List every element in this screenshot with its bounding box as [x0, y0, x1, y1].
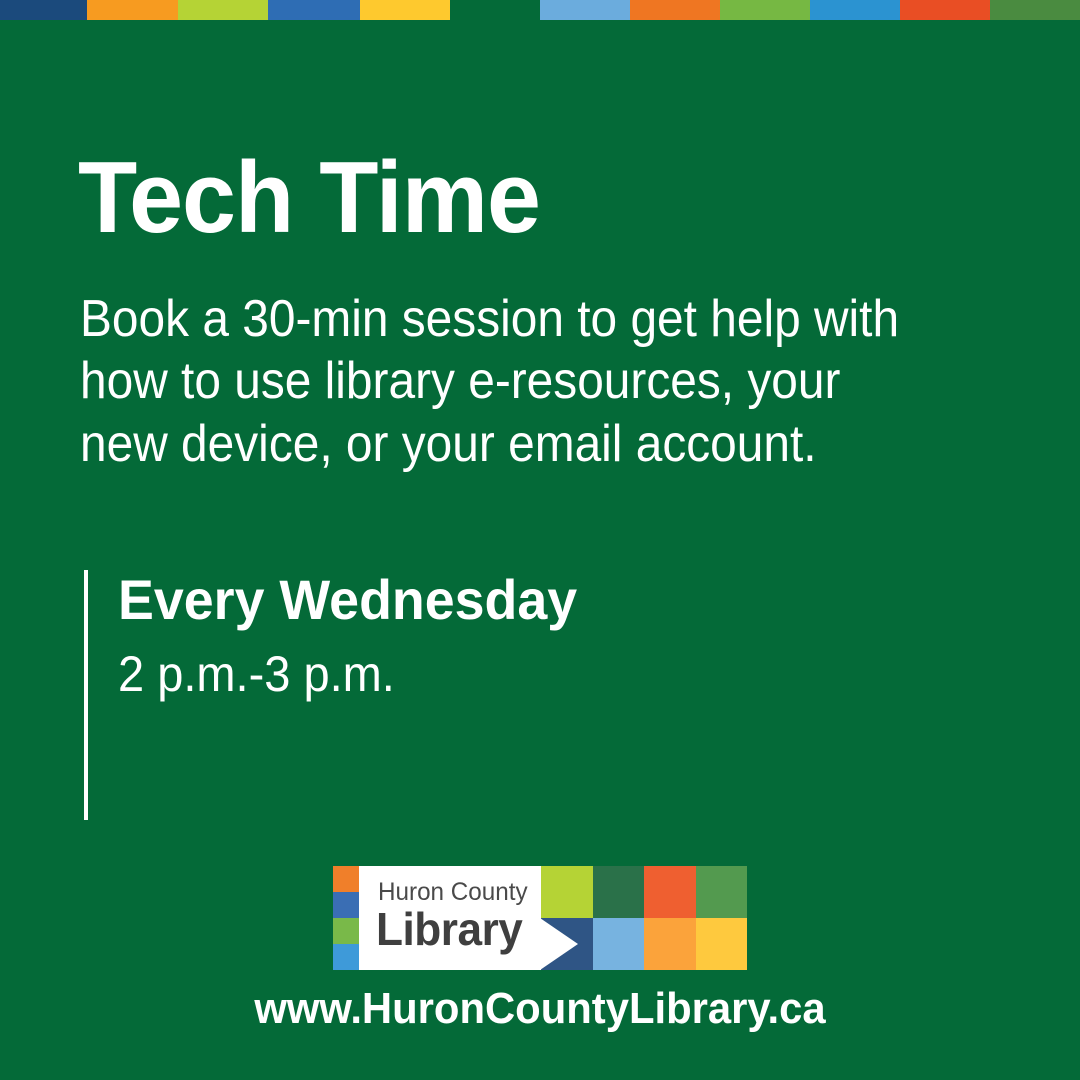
huron-county-library-logo: Huron County Library — [333, 866, 747, 970]
logo-wordmark-plate: Huron County Library — [359, 866, 541, 970]
logo-grid-square-navy-blue — [541, 918, 593, 970]
website-url[interactable]: www.HuronCountyLibrary.ca — [27, 984, 1053, 1034]
logo-strip-square-orange — [333, 866, 359, 892]
poster-canvas: Tech Time Book a 30-min session to get h… — [0, 0, 1080, 1080]
top-color-bar — [0, 0, 1080, 20]
top-bar-segment-dark-blue — [0, 0, 87, 20]
logo-strip-square-green — [333, 918, 359, 944]
top-bar-segment-orange — [87, 0, 178, 20]
logo-text-library: Library — [376, 906, 522, 952]
logo-color-strip — [333, 866, 359, 970]
logo-strip-square-blue — [333, 892, 359, 918]
logo-grid-square-red-orange — [644, 866, 696, 918]
top-bar-segment-steel-blue — [268, 0, 360, 20]
logo-grid-square-sky-blue — [593, 918, 645, 970]
top-bar-segment-poster-green — [450, 0, 540, 20]
logo-strip-square-light-blue — [333, 944, 359, 970]
schedule-time: 2 p.m.-3 p.m. — [118, 644, 720, 704]
top-bar-segment-orange-2 — [630, 0, 720, 20]
top-bar-segment-yellow — [360, 0, 450, 20]
logo-grid-square-orange — [644, 918, 696, 970]
top-bar-segment-green — [720, 0, 810, 20]
logo-color-grid — [541, 866, 747, 970]
schedule-accent-rule — [84, 570, 88, 820]
logo-grid-square-medium-green — [696, 866, 748, 918]
top-bar-segment-red-orange — [900, 0, 990, 20]
schedule-text-group: Every Wednesday 2 p.m.-3 p.m. — [118, 566, 758, 704]
top-bar-segment-light-blue — [540, 0, 630, 20]
top-bar-segment-blue — [810, 0, 900, 20]
page-title: Tech Time — [78, 148, 540, 249]
logo-grid-square-dark-green — [593, 866, 645, 918]
top-bar-segment-lime-green — [178, 0, 268, 20]
top-bar-segment-forest-green — [990, 0, 1080, 20]
logo-grid-square-yellow — [696, 918, 748, 970]
logo-grid-square-lime-green — [541, 866, 593, 918]
schedule-day: Every Wednesday — [118, 566, 732, 634]
description-text: Book a 30-min session to get help with h… — [80, 288, 936, 475]
